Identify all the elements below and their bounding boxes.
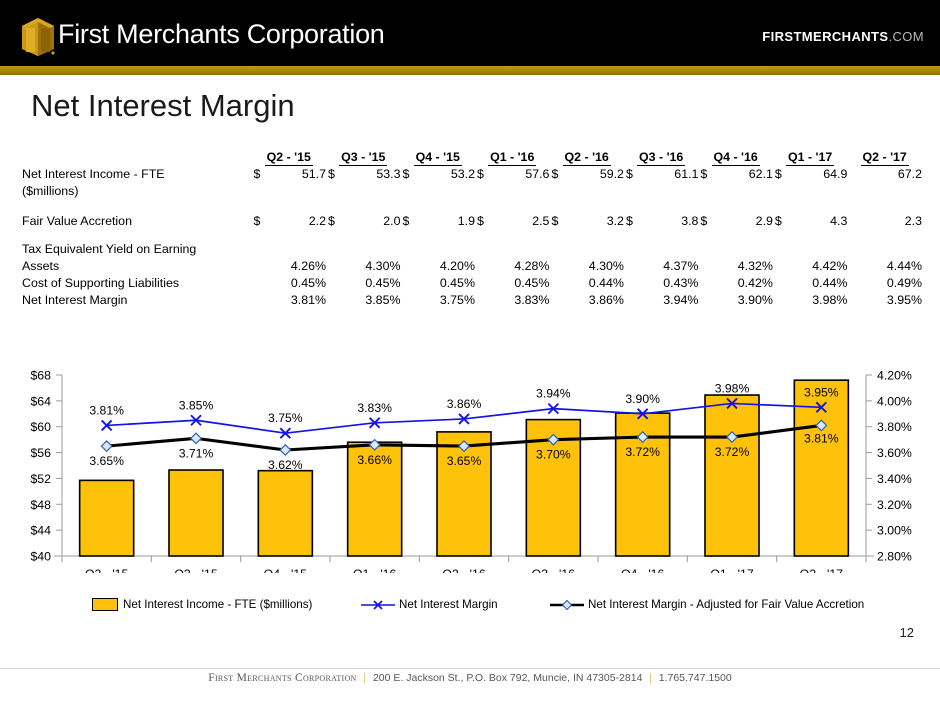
footer-company: First Merchants Corporation — [208, 672, 356, 684]
cell-4-3: 3.83% — [475, 292, 549, 309]
currency-symbol: $ — [326, 166, 335, 183]
cell-4-1: 3.85% — [326, 292, 400, 309]
legend-item-bar: Net Interest Income - FTE ($millions) — [92, 598, 312, 611]
chart-data-label: 3.62% — [268, 458, 303, 472]
chart-data-label: 3.95% — [804, 385, 839, 399]
chart-data-marker — [280, 445, 290, 455]
cell-value: 0.44% — [589, 276, 624, 290]
cell-0-7: $64.9 — [773, 166, 847, 200]
cell-value: 3.94% — [663, 293, 698, 307]
cell-2-4: 4.30% — [549, 241, 623, 275]
col-header-label: Q2 - '15 — [265, 150, 313, 166]
cell-3-4: 0.44% — [549, 275, 623, 292]
currency-symbol: $ — [252, 166, 261, 183]
col-header-3: Q1 - '16 — [475, 150, 549, 166]
row-label-2: Tax Equivalent Yield on Earning Assets — [22, 241, 252, 275]
cell-value: 4.26% — [291, 259, 326, 273]
cell-4-2: 3.75% — [400, 292, 474, 309]
cell-0-5: $61.1 — [624, 166, 698, 200]
cell-value: 3.2 — [607, 214, 624, 228]
cell-0-4: $59.2 — [549, 166, 623, 200]
row-label-line2: ($millions) — [22, 183, 252, 200]
cell-value: 64.9 — [823, 167, 847, 181]
cell-value: 3.83% — [514, 293, 549, 307]
chart-bar — [258, 471, 312, 556]
bar-swatch-icon — [92, 598, 118, 611]
currency-symbol: $ — [549, 213, 558, 230]
cell-3-3: 0.45% — [475, 275, 549, 292]
chart-data-label: 3.70% — [536, 448, 571, 462]
cell-0-8: 67.2 — [847, 166, 922, 200]
page-title: Net Interest Margin — [31, 88, 295, 124]
right-axis-tick-label: 4.00% — [877, 394, 912, 408]
chart-data-label: 3.72% — [625, 445, 660, 459]
table-row: Tax Equivalent Yield on Earning Assets 4… — [22, 241, 922, 275]
row-label-3: Cost of Supporting Liabilities — [22, 275, 252, 292]
left-axis-tick-label: $56 — [30, 446, 51, 460]
currency-symbol: $ — [773, 213, 782, 230]
chart-data-label: 3.83% — [357, 401, 392, 415]
cell-value: 1.9 — [458, 214, 475, 228]
cell-value: 2.9 — [756, 214, 773, 228]
row-label-line1: Tax Equivalent Yield on Earning — [22, 241, 252, 258]
col-header-1: Q3 - '15 — [326, 150, 400, 166]
cell-3-1: 0.45% — [326, 275, 400, 292]
cell-1-2: $1.9 — [400, 213, 474, 230]
left-axis-tick-label: $52 — [30, 472, 51, 486]
table-header-row: Q2 - '15 Q3 - '15 Q4 - '15 Q1 - '16 Q2 -… — [22, 150, 922, 166]
cell-value: 0.42% — [738, 276, 773, 290]
cell-value: 4.32% — [738, 259, 773, 273]
table-header-blank — [22, 150, 252, 166]
currency-symbol: $ — [698, 213, 707, 230]
cell-value: 4.42% — [812, 259, 847, 273]
col-header-8: Q2 - '17 — [847, 150, 922, 166]
col-header-label: Q1 - '16 — [488, 150, 536, 166]
left-axis-tick-label: $68 — [30, 369, 51, 383]
currency-symbol: $ — [773, 166, 782, 183]
cell-value: 2.5 — [532, 214, 549, 228]
category-axis-label: Q3 - '16 — [532, 567, 576, 573]
currency-symbol: $ — [475, 213, 484, 230]
chart-data-label: 3.94% — [536, 387, 571, 401]
table-row: Net Interest Income - FTE ($millions) $5… — [22, 166, 922, 200]
cell-2-6: 4.32% — [698, 241, 772, 275]
cell-1-6: $2.9 — [698, 213, 772, 230]
cell-value: 3.86% — [589, 293, 624, 307]
left-axis-tick-label: $44 — [30, 524, 51, 538]
row-label-line1: Net Interest Income - FTE — [22, 166, 252, 183]
cell-value: 4.30% — [589, 259, 624, 273]
cell-value: 3.75% — [440, 293, 475, 307]
col-header-2: Q4 - '15 — [400, 150, 474, 166]
chart-bar — [705, 395, 759, 556]
right-axis-tick-label: 4.20% — [877, 369, 912, 383]
cell-3-2: 0.45% — [400, 275, 474, 292]
right-axis-tick-label: 3.20% — [877, 498, 912, 512]
right-axis-tick-label: 3.80% — [877, 420, 912, 434]
cell-0-1: $53.3 — [326, 166, 400, 200]
cell-1-8: 2.3 — [847, 213, 922, 230]
table-row: Fair Value Accretion $2.2 $2.0 $1.9 $2.5… — [22, 213, 922, 230]
chart-data-marker — [101, 441, 111, 451]
cell-0-6: $62.1 — [698, 166, 772, 200]
cell-0-2: $53.2 — [400, 166, 474, 200]
cell-1-0: $2.2 — [252, 213, 326, 230]
col-header-7: Q1 - '17 — [773, 150, 847, 166]
page-number: 12 — [900, 625, 914, 640]
cell-value: 67.2 — [898, 167, 922, 181]
cell-4-8: 3.95% — [847, 292, 922, 309]
header-gold-rule — [0, 66, 940, 75]
cell-value: 4.30% — [365, 259, 400, 273]
category-axis-label: Q3 - '15 — [174, 567, 218, 573]
cell-3-0: 0.45% — [252, 275, 326, 292]
currency-symbol: $ — [400, 213, 409, 230]
cell-value: 3.85% — [365, 293, 400, 307]
legend-item-nim: Net Interest Margin — [361, 598, 498, 611]
category-axis-label: Q1 - '16 — [353, 567, 397, 573]
chart-data-marker — [191, 433, 201, 443]
cell-1-3: $2.5 — [475, 213, 549, 230]
cell-value: 4.28% — [514, 259, 549, 273]
cell-0-3: $57.6 — [475, 166, 549, 200]
chart-data-label: 3.71% — [179, 446, 214, 460]
row-label-line2: Assets — [22, 258, 252, 275]
right-axis-tick-label: 2.80% — [877, 550, 912, 564]
line-diamond-marker-icon — [550, 599, 584, 611]
row-label-1: Fair Value Accretion — [22, 213, 252, 230]
col-header-label: Q2 - '17 — [861, 150, 909, 166]
row-label-0: Net Interest Income - FTE ($millions) — [22, 166, 252, 200]
currency-symbol: $ — [624, 213, 633, 230]
cell-2-8: 4.44% — [847, 241, 922, 275]
chart-data-label: 3.66% — [357, 453, 392, 467]
cell-value: 0.45% — [365, 276, 400, 290]
cell-value: 3.90% — [738, 293, 773, 307]
left-axis-tick-label: $64 — [30, 394, 51, 408]
cell-2-5: 4.37% — [624, 241, 698, 275]
financial-table: Q2 - '15 Q3 - '15 Q4 - '15 Q1 - '16 Q2 -… — [22, 150, 922, 309]
page-footer: First Merchants Corporation|200 E. Jacks… — [0, 672, 940, 684]
cell-2-3: 4.28% — [475, 241, 549, 275]
footer-divider — [0, 668, 940, 669]
col-header-label: Q3 - '15 — [339, 150, 387, 166]
col-header-5: Q3 - '16 — [624, 150, 698, 166]
cell-2-7: 4.42% — [773, 241, 847, 275]
legend-label: Net Interest Margin - Adjusted for Fair … — [588, 598, 864, 611]
cell-value: 3.8 — [681, 214, 698, 228]
chart-data-label: 3.72% — [715, 445, 750, 459]
table-row: Net Interest Margin 3.81% 3.85% 3.75% 3.… — [22, 292, 922, 309]
cell-4-4: 3.86% — [549, 292, 623, 309]
row-label-line1: Fair Value Accretion — [22, 213, 252, 230]
cell-1-7: $4.3 — [773, 213, 847, 230]
chart-data-label: 3.90% — [625, 392, 660, 406]
category-axis-label: Q4 - '16 — [621, 567, 665, 573]
chart-bar — [80, 480, 134, 556]
row-label-line1: Net Interest Margin — [22, 292, 252, 309]
cell-value: 4.20% — [440, 259, 475, 273]
cell-value: 0.45% — [440, 276, 475, 290]
cell-value: 0.45% — [291, 276, 326, 290]
col-header-label: Q3 - '16 — [637, 150, 685, 166]
currency-symbol: $ — [475, 166, 484, 183]
cell-value: 0.44% — [812, 276, 847, 290]
cell-4-0: 3.81% — [252, 292, 326, 309]
currency-symbol: $ — [252, 213, 261, 230]
cell-value: 3.81% — [291, 293, 326, 307]
legend-label: Net Interest Income - FTE ($millions) — [123, 598, 312, 611]
cell-value: 4.3 — [830, 214, 847, 228]
cell-1-5: $3.8 — [624, 213, 698, 230]
chart-data-label: 3.85% — [179, 398, 214, 412]
net-interest-margin-chart: $40$44$48$52$56$60$64$682.80%3.00%3.20%3… — [0, 363, 940, 573]
category-axis-label: Q2 - '15 — [85, 567, 129, 573]
cell-value: 2.3 — [905, 214, 922, 228]
cell-4-6: 3.90% — [698, 292, 772, 309]
col-header-label: Q2 - '16 — [563, 150, 611, 166]
category-axis-label: Q2 - '17 — [800, 567, 844, 573]
currency-symbol: $ — [326, 213, 335, 230]
cell-value: 62.1 — [749, 167, 773, 181]
chart-bar — [169, 470, 223, 556]
cell-value: 53.2 — [451, 167, 475, 181]
table-spacer — [22, 230, 922, 241]
currency-symbol: $ — [624, 166, 633, 183]
cell-value: 4.44% — [887, 259, 922, 273]
currency-symbol: $ — [549, 166, 558, 183]
category-axis-label: Q4 - '15 — [264, 567, 308, 573]
category-axis-label: Q2 - '16 — [442, 567, 486, 573]
col-header-6: Q4 - '16 — [698, 150, 772, 166]
gold-cube-logo-icon — [20, 17, 56, 57]
left-axis-tick-label: $60 — [30, 420, 51, 434]
cell-2-1: 4.30% — [326, 241, 400, 275]
cell-value: 4.37% — [663, 259, 698, 273]
table-spacer — [22, 200, 922, 213]
chart-canvas: $40$44$48$52$56$60$64$682.80%3.00%3.20%3… — [0, 363, 940, 573]
cell-value: 3.95% — [887, 293, 922, 307]
cell-1-4: $3.2 — [549, 213, 623, 230]
right-axis-tick-label: 3.00% — [877, 524, 912, 538]
chart-data-label: 3.65% — [89, 454, 124, 468]
cell-4-5: 3.94% — [624, 292, 698, 309]
cell-4-7: 3.98% — [773, 292, 847, 309]
cell-value: 61.1 — [674, 167, 698, 181]
legend-label: Net Interest Margin — [399, 598, 498, 611]
cell-value: 53.3 — [376, 167, 400, 181]
chart-data-label: 3.86% — [447, 397, 482, 411]
right-axis-tick-label: 3.40% — [877, 472, 912, 486]
cell-3-5: 0.43% — [624, 275, 698, 292]
cell-3-8: 0.49% — [847, 275, 922, 292]
col-header-label: Q1 - '17 — [786, 150, 834, 166]
currency-symbol: $ — [400, 166, 409, 183]
website-url: FIRSTMERCHANTS.COM — [762, 29, 924, 44]
row-label-4: Net Interest Margin — [22, 292, 252, 309]
right-axis-tick-label: 3.60% — [877, 446, 912, 460]
line-x-marker-icon — [361, 599, 395, 611]
col-header-0: Q2 - '15 — [252, 150, 326, 166]
chart-data-label: 3.81% — [89, 403, 124, 417]
cell-0-0: $51.7 — [252, 166, 326, 200]
cell-value: 57.6 — [525, 167, 549, 181]
chart-data-label: 3.65% — [447, 454, 482, 468]
footer-phone: 1.765.747.1500 — [659, 672, 732, 684]
cell-value: 59.2 — [600, 167, 624, 181]
footer-address: 200 E. Jackson St., P.O. Box 792, Muncie… — [373, 672, 642, 684]
left-axis-tick-label: $40 — [30, 550, 51, 564]
cell-value: 51.7 — [302, 167, 326, 181]
row-label-line1: Cost of Supporting Liabilities — [22, 275, 252, 292]
cell-value: 0.49% — [887, 276, 922, 290]
cell-2-0: 4.26% — [252, 241, 326, 275]
cell-value: 3.98% — [812, 293, 847, 307]
legend-item-nim-adjusted: Net Interest Margin - Adjusted for Fair … — [550, 598, 864, 611]
chart-data-label: 3.81% — [804, 431, 839, 445]
col-header-label: Q4 - '15 — [414, 150, 462, 166]
cell-value: 2.2 — [309, 214, 326, 228]
cell-2-2: 4.20% — [400, 241, 474, 275]
col-header-4: Q2 - '16 — [549, 150, 623, 166]
url-tld-part: .COM — [888, 29, 924, 44]
category-axis-label: Q1 - '17 — [710, 567, 754, 573]
brand-name: First Merchants Corporation — [58, 19, 385, 50]
cell-value: 0.43% — [663, 276, 698, 290]
footer-separator: | — [642, 672, 658, 684]
table-row: Cost of Supporting Liabilities 0.45% 0.4… — [22, 275, 922, 292]
cell-3-6: 0.42% — [698, 275, 772, 292]
footer-separator: | — [357, 672, 373, 684]
left-axis-tick-label: $48 — [30, 498, 51, 512]
chart-legend: Net Interest Income - FTE ($millions) Ne… — [0, 598, 940, 620]
chart-data-label: 3.75% — [268, 411, 303, 425]
currency-symbol: $ — [698, 166, 707, 183]
url-bold-part: FIRSTMERCHANTS — [762, 29, 888, 44]
cell-value: 0.45% — [514, 276, 549, 290]
cell-1-1: $2.0 — [326, 213, 400, 230]
chart-data-label: 3.98% — [715, 381, 750, 395]
col-header-label: Q4 - '16 — [712, 150, 760, 166]
cell-3-7: 0.44% — [773, 275, 847, 292]
cell-value: 2.0 — [383, 214, 400, 228]
